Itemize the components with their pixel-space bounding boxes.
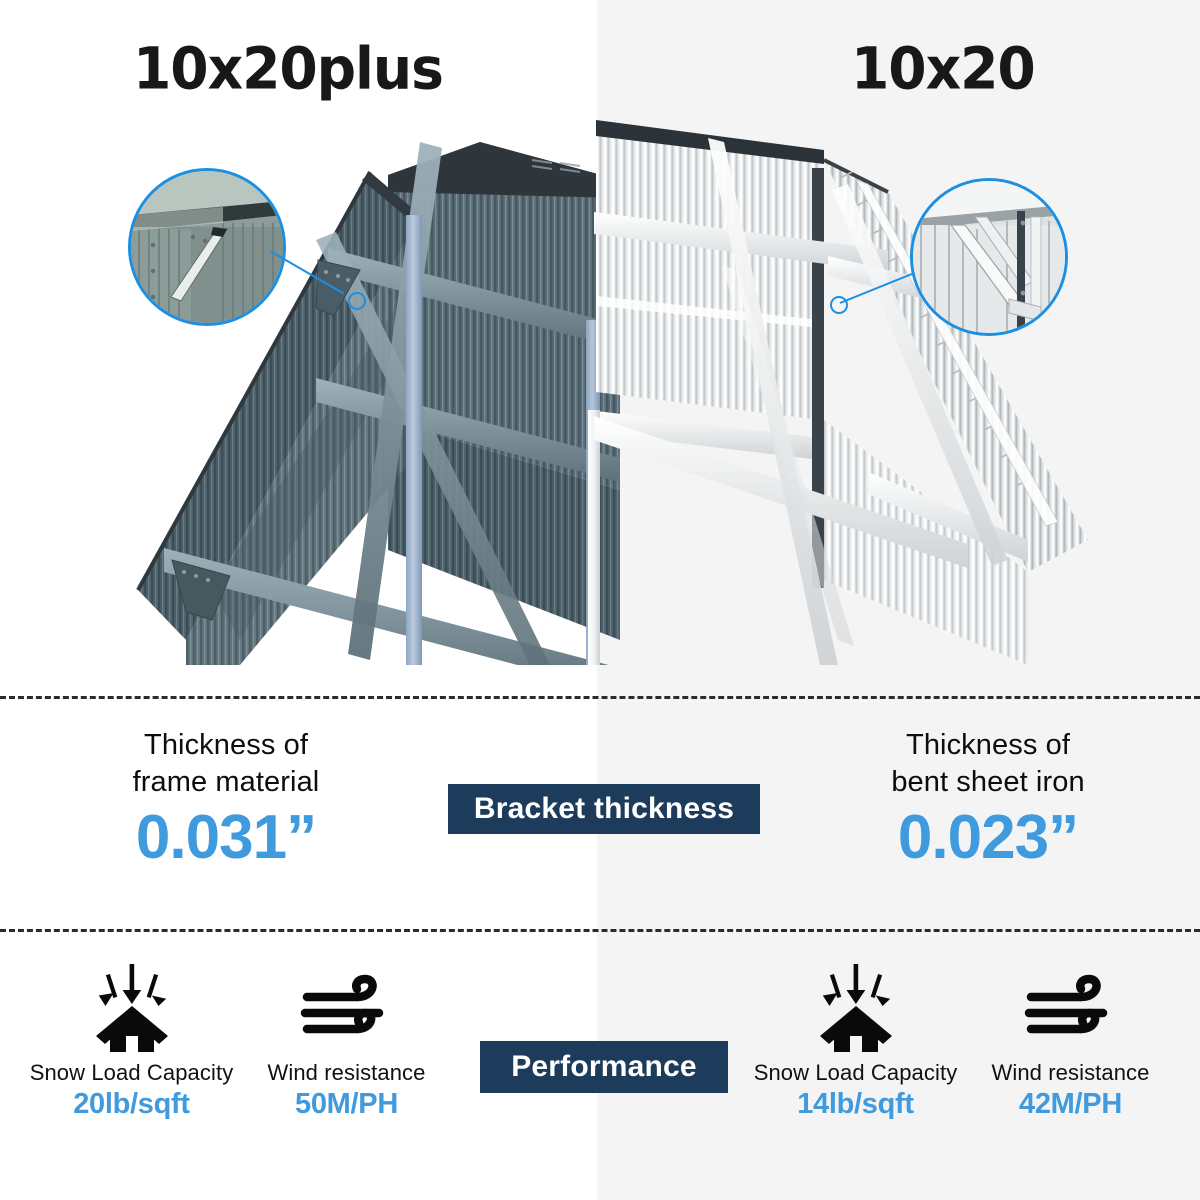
snow-load-house-icon: [24, 962, 239, 1054]
perf-item-snow-left: Snow Load Capacity 20lb/sqft: [24, 962, 239, 1121]
perf-name-wind-right: Wind resistance: [963, 1060, 1178, 1086]
callout-magnifier-right: [910, 178, 1068, 336]
section-divider-top: [0, 696, 1200, 699]
callout-marker-left: [348, 292, 366, 310]
callout-detail-dark: [131, 171, 283, 323]
perf-item-snow-right: Snow Load Capacity 14lb/sqft: [748, 962, 963, 1121]
product-title-left: 10x20plus: [133, 36, 443, 103]
product-title-right: 10x20: [851, 36, 1035, 103]
bracket-value-right: 0.023”: [808, 805, 1168, 870]
bracket-thickness-right: Thickness of bent sheet iron 0.023”: [808, 727, 1168, 870]
performance-badge-label: Performance: [511, 1050, 697, 1084]
perf-name-snow-right: Snow Load Capacity: [748, 1060, 963, 1086]
bracket-label-left-line2: frame material: [56, 764, 396, 801]
perf-name-snow-left: Snow Load Capacity: [24, 1060, 239, 1086]
perf-name-wind-left: Wind resistance: [239, 1060, 454, 1086]
perf-value-wind-right: 42M/PH: [963, 1088, 1178, 1121]
wind-resistance-icon: [963, 962, 1178, 1054]
section-divider-bottom: [0, 929, 1200, 932]
bracket-label-left-line1: Thickness of: [56, 727, 396, 764]
callout-magnifier-left: [128, 168, 286, 326]
wind-resistance-icon-glyph: [299, 962, 395, 1054]
perf-item-wind-left: Wind resistance 50M/PH: [239, 962, 454, 1121]
wind-resistance-icon: [239, 962, 454, 1054]
product-photo-right: [588, 120, 1088, 665]
snow-load-house-icon: [748, 962, 963, 1054]
callout-detail-light: [913, 181, 1065, 333]
performance-badge: Performance: [480, 1041, 728, 1093]
perf-value-wind-left: 50M/PH: [239, 1088, 454, 1121]
performance-group-right: Snow Load Capacity 14lb/sqft Wind resist…: [748, 962, 1178, 1121]
perf-value-snow-left: 20lb/sqft: [24, 1088, 239, 1121]
bracket-label-right-line1: Thickness of: [808, 727, 1168, 764]
snow-load-house-icon-glyph: [810, 962, 902, 1054]
wind-resistance-icon-glyph: [1023, 962, 1119, 1054]
callout-marker-right: [830, 296, 848, 314]
performance-group-left: Snow Load Capacity 20lb/sqft Wind resist…: [24, 962, 454, 1121]
perf-item-wind-right: Wind resistance 42M/PH: [963, 962, 1178, 1121]
product-photo-left: [120, 120, 620, 665]
bracket-label-right-line2: bent sheet iron: [808, 764, 1168, 801]
bracket-thickness-left: Thickness of frame material 0.031”: [56, 727, 396, 870]
snow-load-house-icon-glyph: [86, 962, 178, 1054]
comparison-infographic: 10x20plus 10x20: [0, 0, 1200, 1200]
bracket-value-left: 0.031”: [56, 805, 396, 870]
perf-value-snow-right: 14lb/sqft: [748, 1088, 963, 1121]
bracket-thickness-badge: Bracket thickness: [448, 784, 760, 834]
bracket-badge-label: Bracket thickness: [474, 792, 734, 826]
